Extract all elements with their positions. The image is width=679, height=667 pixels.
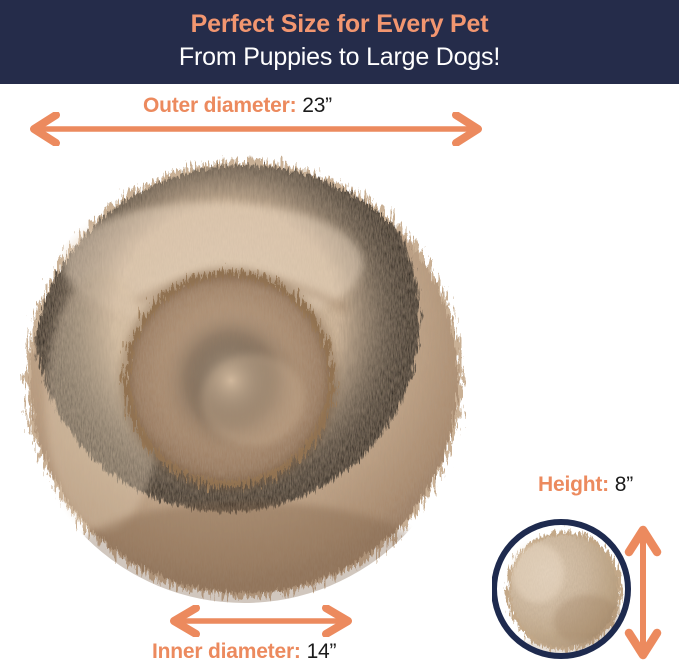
height-label: Height: 8” (538, 473, 633, 497)
header-subheadline: From Puppies to Large Dogs! (0, 40, 679, 74)
pet-bed-side-view-inset (492, 509, 636, 667)
height-value: 8” (615, 473, 633, 496)
inner-diameter-label: Inner diameter: 14” (152, 640, 336, 664)
infographic-canvas: Perfect Size for Every Pet From Puppies … (0, 0, 679, 667)
height-label-text: Height: (538, 473, 609, 496)
inner-diameter-arrow (160, 605, 362, 637)
header-banner: Perfect Size for Every Pet From Puppies … (0, 0, 679, 84)
pet-bed-top-view-graphic (17, 152, 472, 607)
outer-diameter-arrow (18, 112, 494, 146)
outer-diameter-arrow-icon (18, 112, 494, 146)
inner-diameter-value: 14” (307, 640, 337, 663)
inner-diameter-label-text: Inner diameter: (152, 640, 301, 663)
pet-bed-side-view-graphic (492, 509, 636, 667)
header-headline: Perfect Size for Every Pet (0, 8, 679, 40)
inner-diameter-arrow-icon (160, 605, 362, 637)
pet-bed-top-view-image (17, 152, 472, 607)
